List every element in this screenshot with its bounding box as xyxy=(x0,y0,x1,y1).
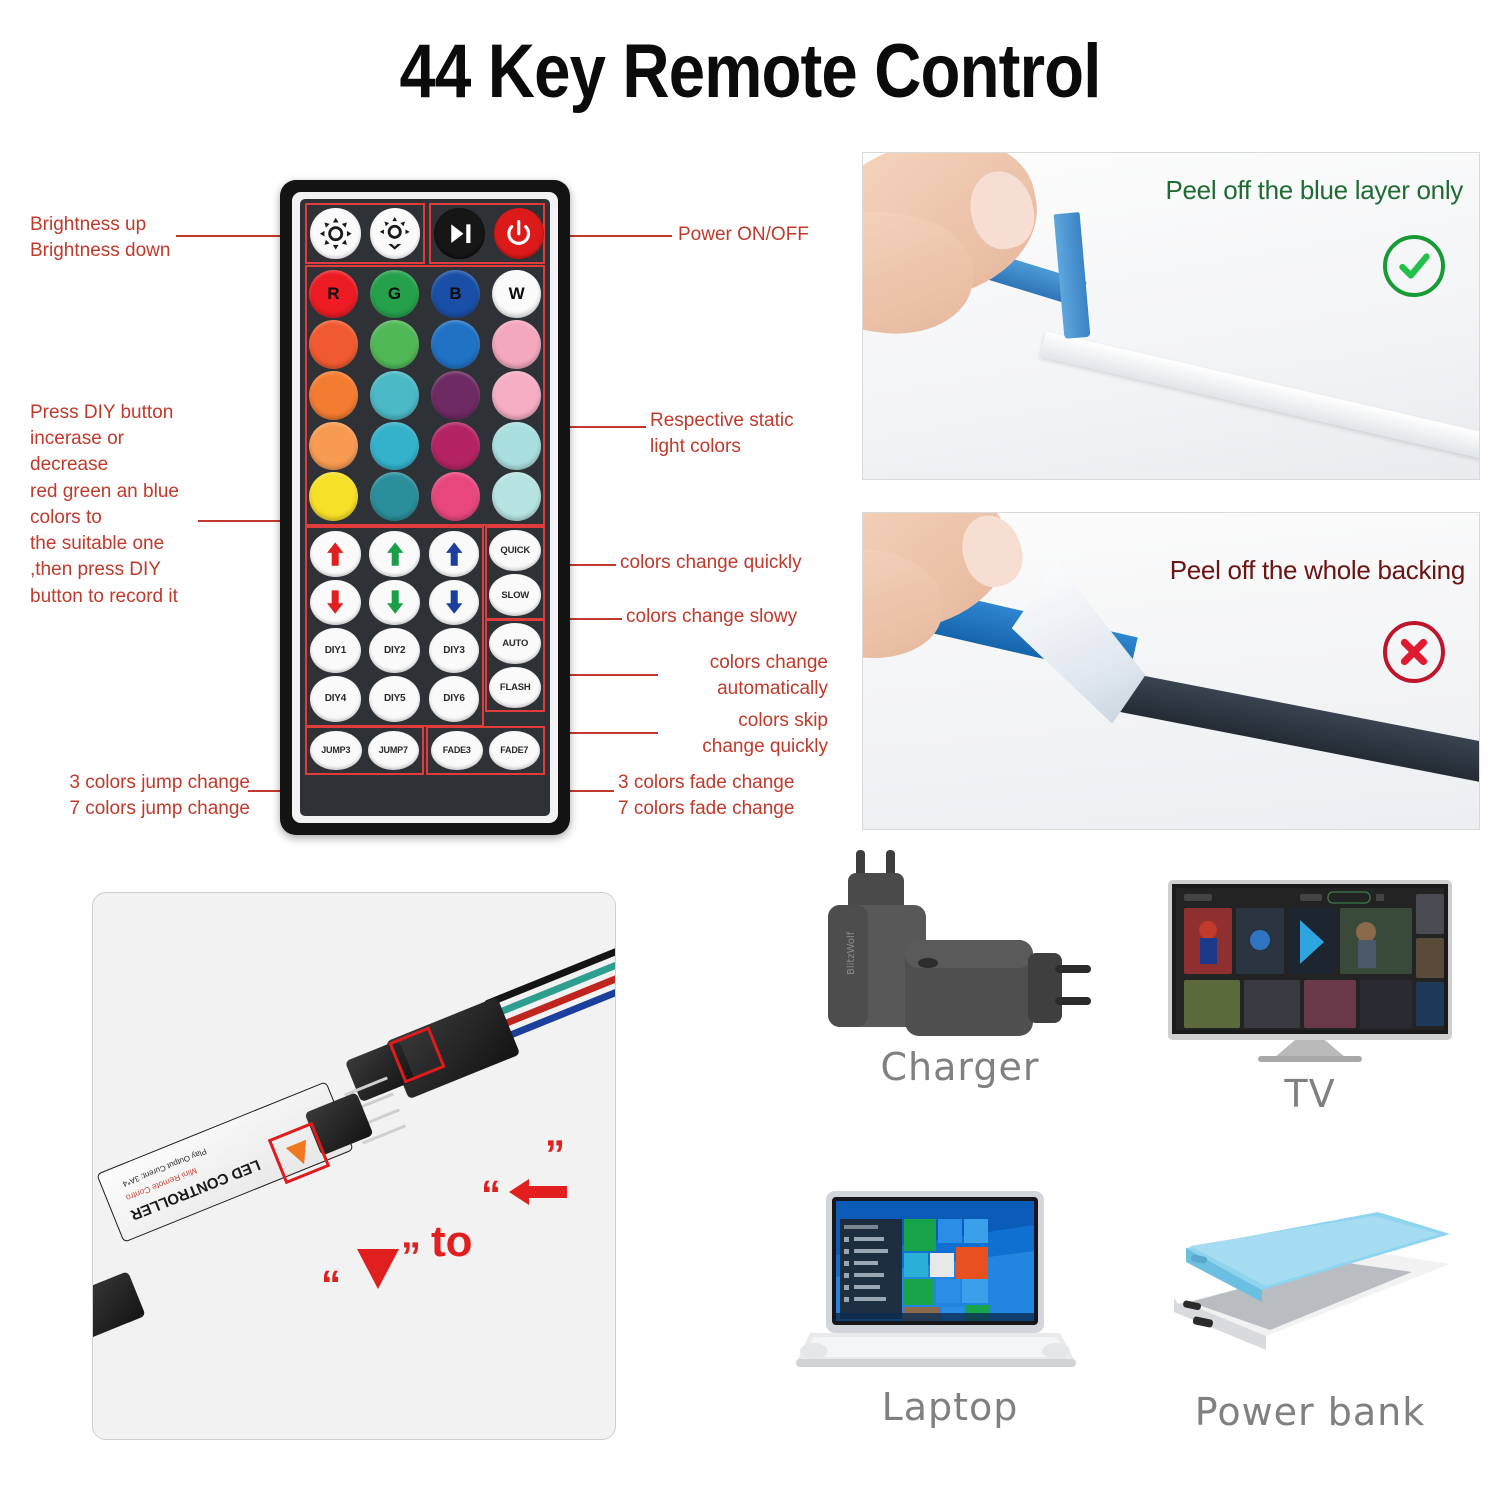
flash-button[interactable]: FLASH xyxy=(489,667,541,708)
green-up-button[interactable] xyxy=(369,531,420,576)
color-button-teal[interactable] xyxy=(370,472,419,521)
diy-group: DIY1 DIY2 DIY3 DIY4 DIY5 DIY6 xyxy=(307,528,482,725)
power-bank-label: Power bank xyxy=(1150,1390,1470,1434)
top-control-zone xyxy=(307,205,543,262)
color-button-pink[interactable] xyxy=(492,320,541,369)
diy-row-2: DIY4 DIY5 DIY6 xyxy=(310,676,479,721)
peel-whole-backing-photo: Peel off the whole backing xyxy=(862,512,1480,830)
color-button-light-orange[interactable] xyxy=(309,422,358,471)
play-pause-button[interactable] xyxy=(434,208,485,259)
leader-brightness xyxy=(176,235,294,237)
remote-faceplate: R G B W xyxy=(300,199,550,816)
power-group xyxy=(431,205,543,262)
fade7-button[interactable]: FADE7 xyxy=(489,731,541,771)
color-row xyxy=(309,371,541,420)
color-button-pale-cyan[interactable] xyxy=(492,422,541,471)
quote-open-1: “ xyxy=(321,1263,341,1308)
brightness-group xyxy=(307,205,423,262)
color-button-orange-red[interactable] xyxy=(309,320,358,369)
arrow-left-icon xyxy=(507,1175,569,1209)
callout-auto: colors change automatically xyxy=(600,650,828,702)
quote-close-2: ” xyxy=(545,1133,565,1178)
page-title: 44 Key Remote Control xyxy=(105,28,1395,115)
red-up-button[interactable] xyxy=(310,531,361,576)
callout-power: Power ON/OFF xyxy=(678,222,809,248)
remote-bezel: R G B W xyxy=(292,192,558,823)
leader-slow xyxy=(562,618,622,620)
leader-quick xyxy=(562,564,616,566)
blue-up-button[interactable] xyxy=(429,531,480,576)
diy3-button[interactable]: DIY3 xyxy=(429,628,480,673)
device-charger: BlitzWolf Charger xyxy=(800,845,1120,1089)
peel1-caption: Peel off the blue layer only xyxy=(1165,175,1463,206)
color-button-magenta[interactable] xyxy=(431,422,480,471)
color-button-cyan[interactable] xyxy=(370,371,419,420)
color-button-light-pink[interactable] xyxy=(492,371,541,420)
peel-blue-layer-photo: Peel off the blue layer only xyxy=(862,152,1480,480)
triangle-down-icon xyxy=(357,1249,399,1289)
color-button-orange[interactable] xyxy=(309,371,358,420)
brightness-down-button[interactable] xyxy=(370,208,421,259)
color-button-rose[interactable] xyxy=(431,472,480,521)
function-zone: DIY1 DIY2 DIY3 DIY4 DIY5 DIY6 QUICK xyxy=(307,528,543,725)
svg-text:BlitzWolf: BlitzWolf xyxy=(846,931,857,975)
callout-slow: colors change slowy xyxy=(626,604,797,630)
cross-icon xyxy=(1383,621,1445,683)
device-power-bank: Power bank xyxy=(1150,1190,1470,1434)
diy-row-1: DIY1 DIY2 DIY3 xyxy=(310,628,479,673)
diy2-button[interactable]: DIY2 xyxy=(369,628,420,673)
arrow-row-up xyxy=(310,531,479,576)
color-row xyxy=(309,422,541,471)
device-tv: TV xyxy=(1150,872,1470,1116)
quick-button[interactable]: QUICK xyxy=(489,530,541,571)
quote-close-1: ” xyxy=(401,1235,421,1280)
color-button-yellow[interactable] xyxy=(309,472,358,521)
callout-flash: colors skip change quickly xyxy=(600,708,828,760)
color-row xyxy=(309,472,541,521)
leader-power xyxy=(560,235,672,237)
laptop-art xyxy=(790,1185,1110,1385)
speed-group: QUICK SLOW xyxy=(487,528,543,618)
mode-group: AUTO FLASH xyxy=(487,621,543,711)
tv-label: TV xyxy=(1150,1072,1470,1116)
controller-wiring-photo: LED CONTROLLER Mini Remote Contro Play O… xyxy=(92,892,616,1440)
fade3-button[interactable]: FADE3 xyxy=(431,731,483,771)
color-button-g[interactable]: G xyxy=(370,270,419,319)
device-laptop: Laptop xyxy=(790,1185,1110,1429)
charger-art: BlitzWolf xyxy=(800,845,1120,1045)
to-label: to xyxy=(431,1217,473,1267)
remote-diagram: Brightness up Brightness down Press DIY … xyxy=(0,150,860,850)
diy5-button[interactable]: DIY5 xyxy=(369,676,420,721)
jump-group: JUMP3 JUMP7 xyxy=(307,728,422,774)
color-button-pale-blue[interactable] xyxy=(492,472,541,521)
color-button-sky[interactable] xyxy=(370,422,419,471)
leader-auto xyxy=(562,674,658,676)
slow-button[interactable]: SLOW xyxy=(489,574,541,615)
jump3-button[interactable]: JUMP3 xyxy=(310,731,362,771)
mode-column: QUICK SLOW AUTO FLASH xyxy=(487,528,543,725)
diy4-button[interactable]: DIY4 xyxy=(310,676,361,721)
check-icon xyxy=(1383,235,1445,297)
callout-fade: 3 colors fade change 7 colors fade chang… xyxy=(618,770,794,822)
callout-jump: 3 colors jump change 7 colors jump chang… xyxy=(10,770,250,822)
color-row: R G B W xyxy=(309,270,541,319)
green-down-button[interactable] xyxy=(369,580,420,625)
power-button[interactable] xyxy=(494,208,545,259)
callout-quick: colors change quickly xyxy=(620,550,802,576)
color-row xyxy=(309,320,541,369)
color-button-grid: R G B W xyxy=(307,267,543,525)
leader-static xyxy=(562,426,646,428)
color-button-w[interactable]: W xyxy=(492,270,541,319)
bottom-zone: JUMP3 JUMP7 FADE3 FADE7 xyxy=(307,728,543,774)
callout-brightness: Brightness up Brightness down xyxy=(30,212,170,264)
diy1-button[interactable]: DIY1 xyxy=(310,628,361,673)
charger-label: Charger xyxy=(800,1045,1120,1089)
color-button-b[interactable]: B xyxy=(431,270,480,319)
color-button-r[interactable]: R xyxy=(309,270,358,319)
leader-flash xyxy=(562,732,658,734)
peel2-caption: Peel off the whole backing xyxy=(1170,555,1465,586)
quote-open-2: “ xyxy=(481,1173,501,1218)
color-button-purple[interactable] xyxy=(431,371,480,420)
brightness-up-button[interactable] xyxy=(310,208,361,259)
controller-input-plug xyxy=(92,1271,146,1339)
callout-static: Respective static light colors xyxy=(650,408,794,460)
arrow-row-down xyxy=(310,580,479,625)
red-down-button[interactable] xyxy=(310,580,361,625)
blue-down-button[interactable] xyxy=(429,580,480,625)
remote-body: R G B W xyxy=(280,180,570,835)
color-button-light-green[interactable] xyxy=(370,320,419,369)
jump7-button[interactable]: JUMP7 xyxy=(368,731,420,771)
diy6-button[interactable]: DIY6 xyxy=(429,676,480,721)
tv-art xyxy=(1150,872,1470,1072)
fade-group: FADE3 FADE7 xyxy=(428,728,543,774)
power-bank-art xyxy=(1150,1190,1470,1390)
callout-diy: Press DIY button incerase or decrease re… xyxy=(30,400,179,610)
color-button-blue[interactable] xyxy=(431,320,480,369)
auto-button[interactable]: AUTO xyxy=(489,623,541,664)
laptop-label: Laptop xyxy=(790,1385,1110,1429)
